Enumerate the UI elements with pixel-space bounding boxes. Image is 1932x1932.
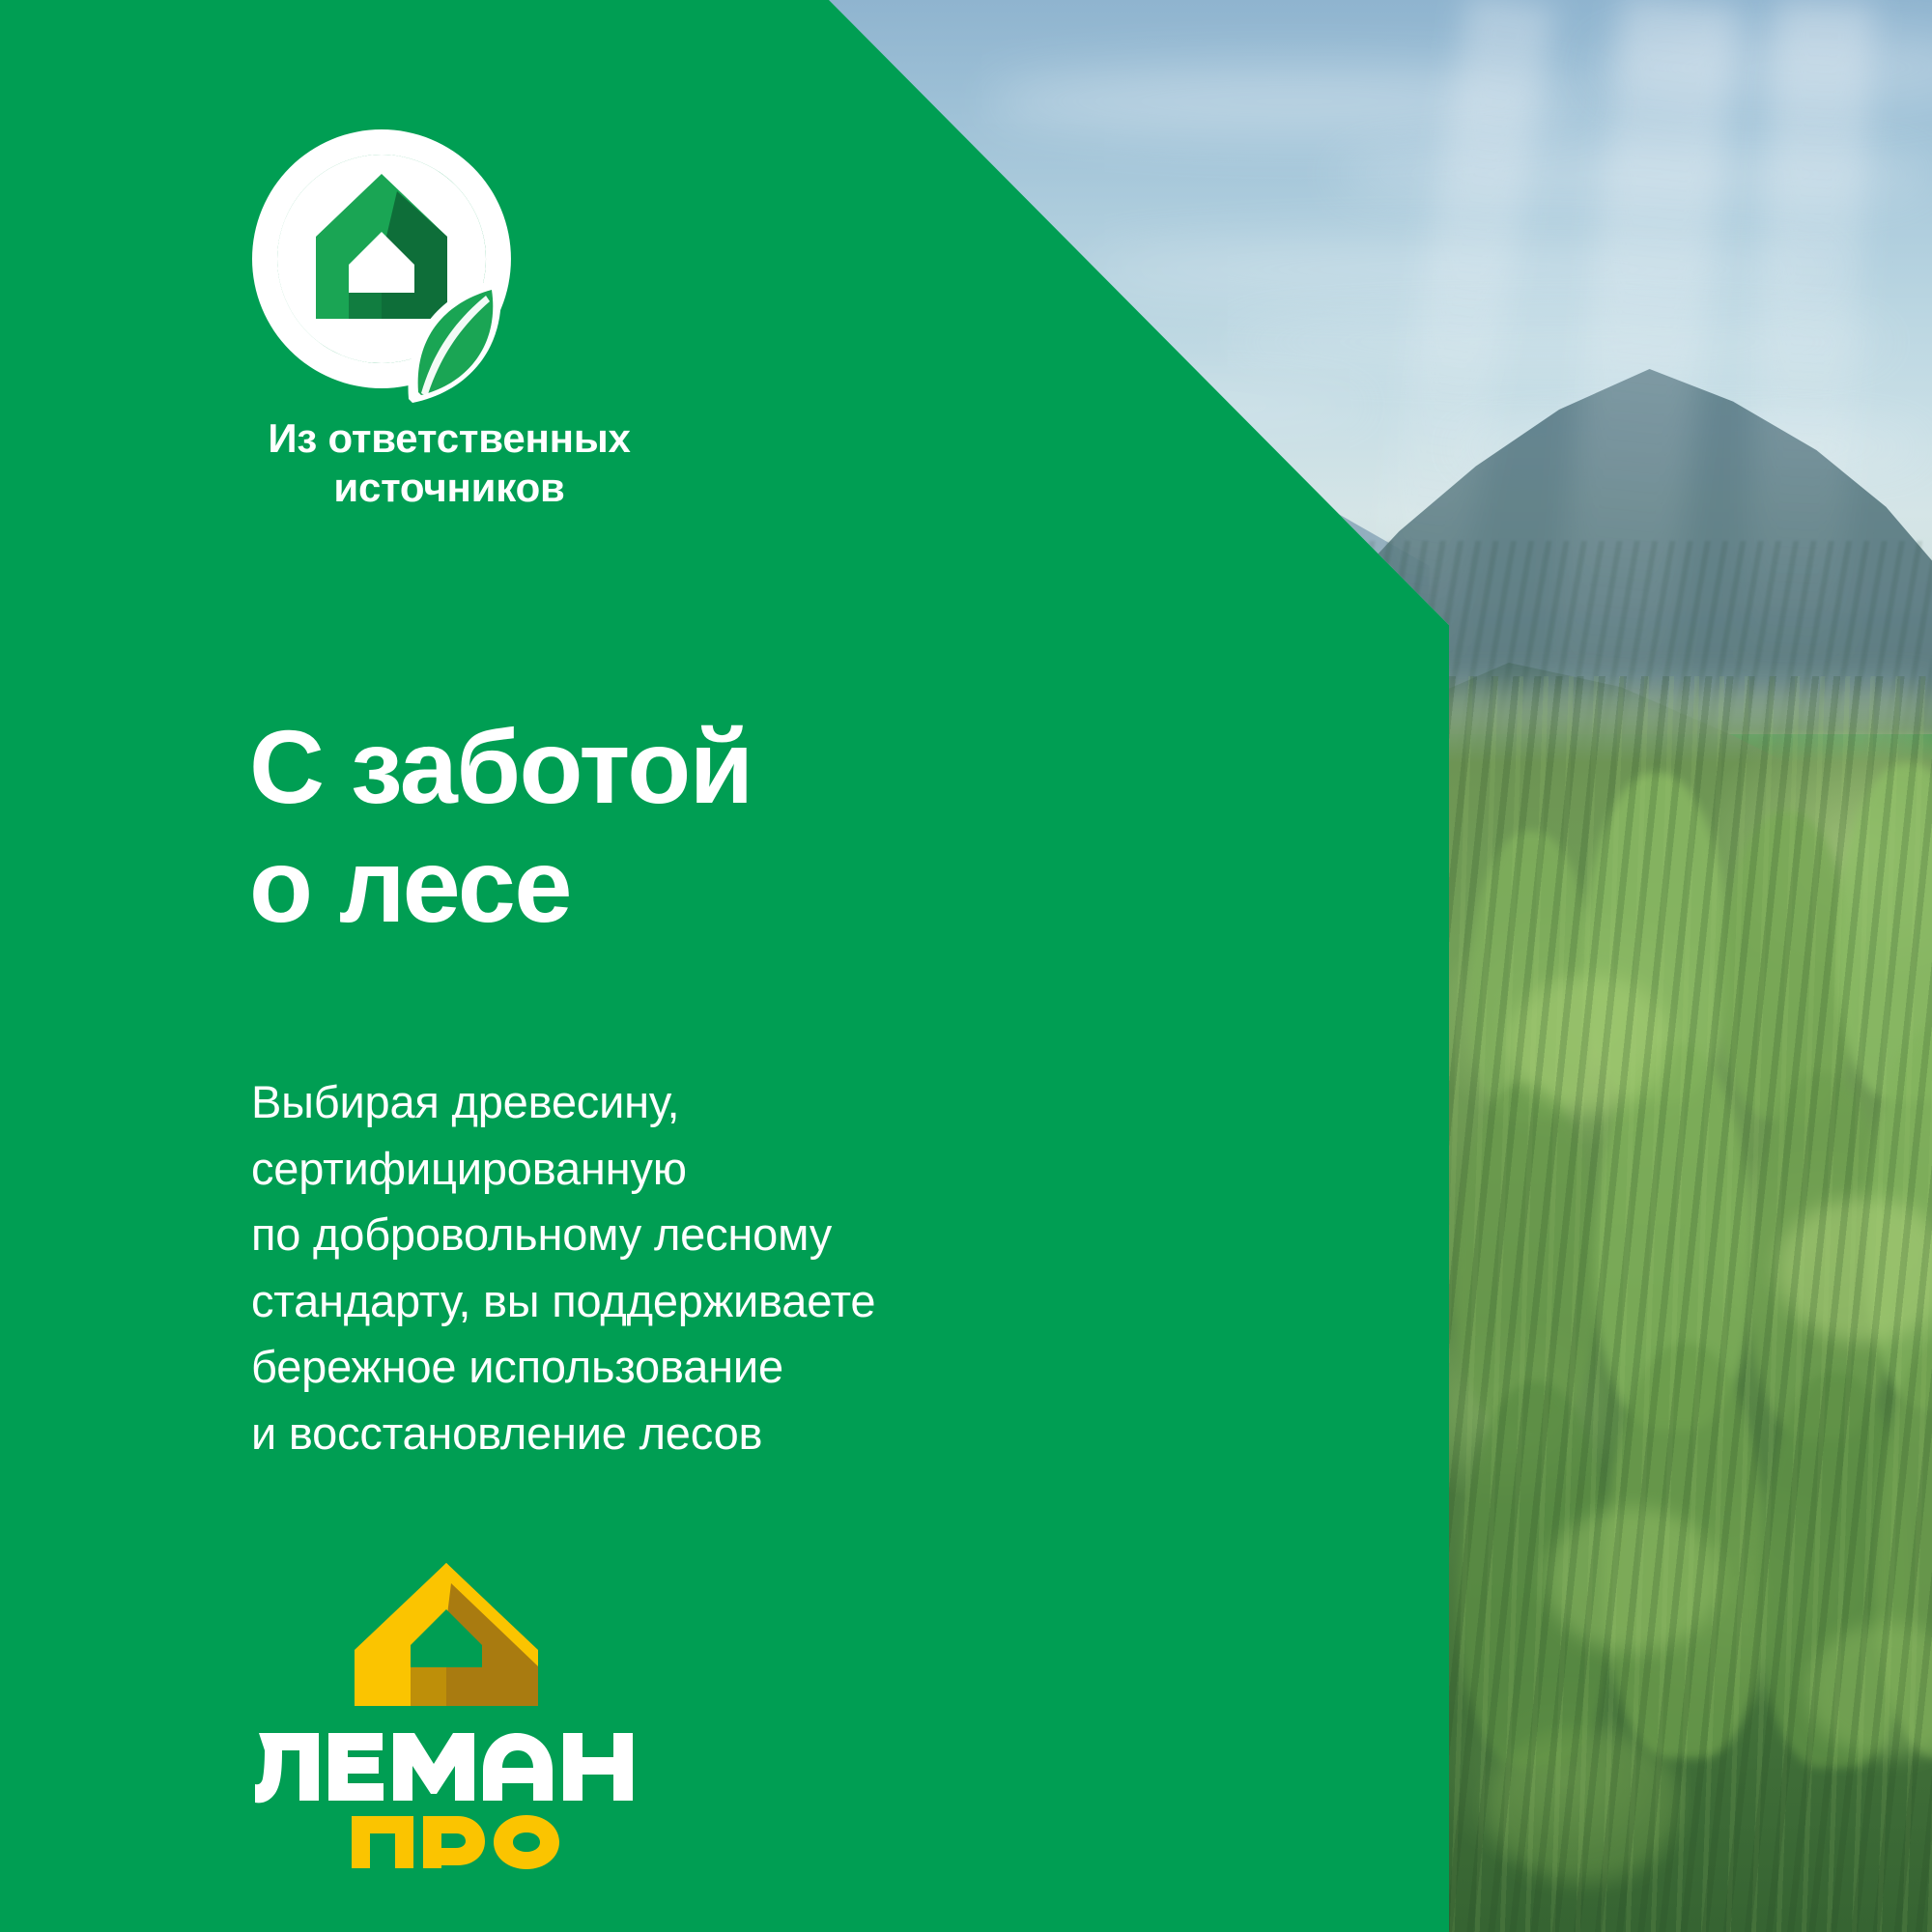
canopy-texture <box>1449 676 1932 1932</box>
certification-badge <box>246 124 536 404</box>
body-paragraph: Выбирая древесину, сертифицированную по … <box>251 1069 1072 1467</box>
poster-canvas: Из ответственных источников С заботой о … <box>0 0 1932 1932</box>
brand-name-lemana <box>255 1733 633 1803</box>
house-with-leaf-in-circle-icon <box>246 124 536 404</box>
certification-badge-caption: Из ответственных источников <box>246 413 652 512</box>
lemana-pro-logo <box>243 1544 649 1872</box>
lemana-pro-house-icon <box>355 1563 538 1706</box>
page-title: С заботой о лесе <box>249 707 1215 945</box>
brand-lockup <box>243 1544 649 1872</box>
green-content-panel: Из ответственных источников С заботой о … <box>0 0 1449 1932</box>
brand-sub-pro <box>352 1815 559 1869</box>
